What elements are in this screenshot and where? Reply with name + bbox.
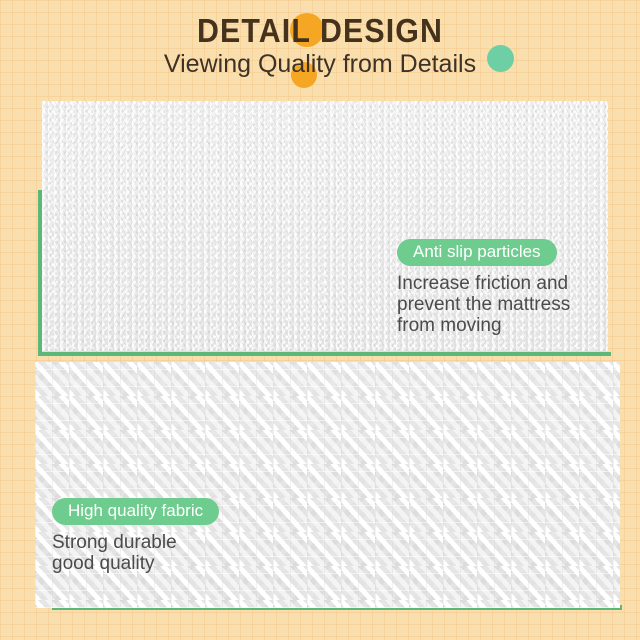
page-subtitle: Viewing Quality from Details xyxy=(0,50,640,79)
top-panel-accent-bottom xyxy=(38,352,611,356)
callout-high-quality-description: Strong durable good quality xyxy=(52,532,282,574)
header: DETAIL DESIGN Viewing Quality from Detai… xyxy=(0,0,640,96)
callout-anti-slip: Anti slip particles Increase friction an… xyxy=(397,239,602,336)
callout-high-quality: High quality fabric Strong durable good … xyxy=(52,498,282,574)
detail-design-page: DETAIL DESIGN Viewing Quality from Detai… xyxy=(0,0,640,640)
badge-anti-slip-particles: Anti slip particles xyxy=(397,239,557,266)
callout-anti-slip-description: Increase friction and prevent the mattre… xyxy=(397,273,602,336)
page-title: DETAIL DESIGN xyxy=(26,12,615,50)
badge-high-quality-fabric: High quality fabric xyxy=(52,498,219,525)
